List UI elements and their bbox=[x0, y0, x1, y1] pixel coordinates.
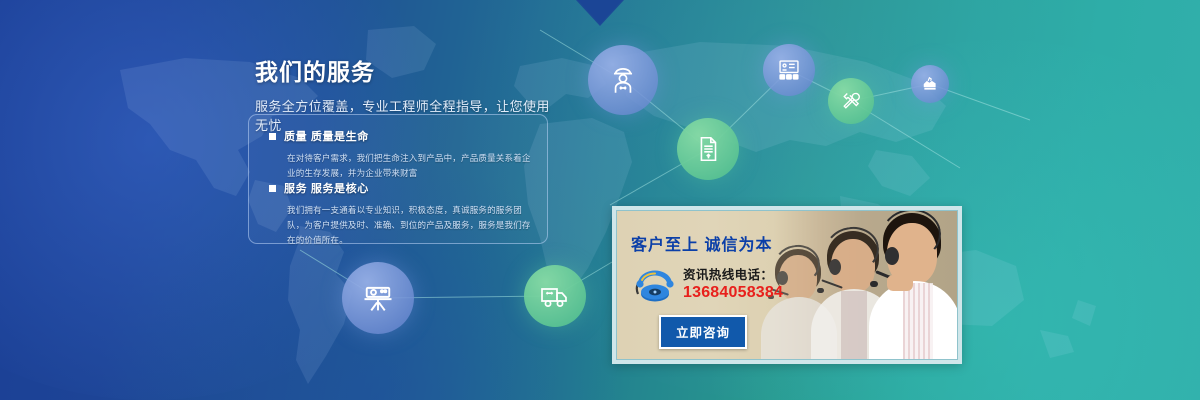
consult-now-button[interactable]: 立即咨询 bbox=[659, 315, 747, 349]
node-support[interactable] bbox=[911, 65, 949, 103]
surveyor-icon bbox=[360, 280, 396, 316]
engineer-icon bbox=[606, 63, 640, 97]
feature-body-text: 我们拥有一支通着以专业知识，积极态度，真诚服务的服务团队，为客户提供及时、准确、… bbox=[287, 203, 531, 248]
feature-heading-text: 质量 质量是生命 bbox=[284, 128, 369, 144]
tools-icon bbox=[839, 89, 863, 113]
document-icon bbox=[693, 134, 723, 164]
training-icon bbox=[776, 57, 802, 83]
features-panel: 质量 质量是生命 在对待客户需求，我们把生命注入到产品中，产品质量关系着企业的生… bbox=[248, 114, 548, 244]
node-document[interactable] bbox=[677, 118, 739, 180]
feature-heading-text: 服务 服务是核心 bbox=[284, 180, 369, 196]
contact-promo-inner: 客户至上 诚信为本 资讯热线电话： bbox=[616, 210, 958, 360]
hotline-row: 资讯热线电话： 13684058384 bbox=[631, 264, 816, 306]
feature-item-quality: 质量 质量是生命 在对待客户需求，我们把生命注入到产品中，产品质量关系着企业的生… bbox=[269, 128, 531, 181]
page-title: 我们的服务 bbox=[255, 58, 555, 87]
node-engineer[interactable] bbox=[588, 45, 658, 115]
promo-headline: 客户至上 诚信为本 bbox=[631, 231, 816, 255]
feature-body-text: 在对待客户需求，我们把生命注入到产品中，产品质量关系着企业的生存发展，并为企业带… bbox=[287, 151, 531, 181]
truck-icon bbox=[539, 280, 571, 312]
hotline-label: 资讯热线电话： bbox=[683, 264, 783, 283]
contact-promo-card[interactable]: 客户至上 诚信为本 资讯热线电话： bbox=[612, 206, 962, 364]
agent-front bbox=[869, 213, 958, 359]
node-training[interactable] bbox=[763, 44, 815, 96]
hotline-number: 13684058384 bbox=[683, 283, 783, 303]
feature-heading: 服务 服务是核心 bbox=[269, 180, 531, 196]
feature-item-service: 服务 服务是核心 我们拥有一支通着以专业知识，积极态度，真诚服务的服务团队，为客… bbox=[269, 180, 531, 248]
node-surveying[interactable] bbox=[342, 262, 414, 334]
promo-text-block: 客户至上 诚信为本 资讯热线电话： bbox=[631, 231, 816, 349]
square-bullet-icon bbox=[269, 185, 276, 192]
telephone-icon bbox=[631, 266, 677, 306]
service-banner: 我们的服务 服务全方位覆盖，专业工程师全程指导，让您使用无忧 质量 质量是生命 … bbox=[0, 0, 1200, 400]
node-delivery[interactable] bbox=[524, 265, 586, 327]
square-bullet-icon bbox=[269, 133, 276, 140]
handshake-icon bbox=[920, 74, 940, 94]
node-tools[interactable] bbox=[828, 78, 874, 124]
feature-heading: 质量 质量是生命 bbox=[269, 128, 531, 144]
